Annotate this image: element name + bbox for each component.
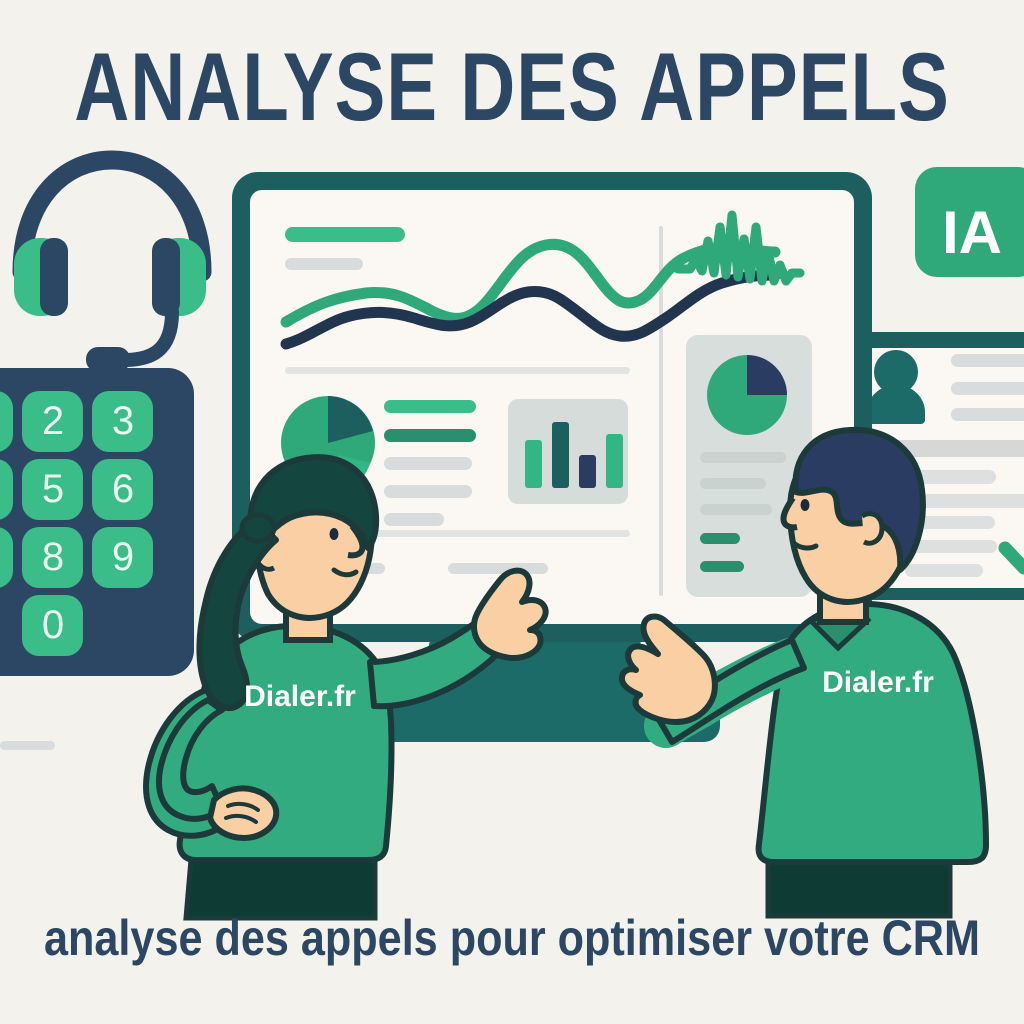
- dialpad-key-label: 0: [42, 603, 64, 647]
- page-title: ANALYSE DES APPELS: [74, 33, 950, 141]
- right-panel-card: [686, 335, 812, 597]
- dialpad-key[interactable]: 6: [92, 459, 153, 520]
- dialpad-key[interactable]: 9: [92, 527, 153, 588]
- bar: [579, 455, 596, 488]
- dialpad-key-label: 9: [112, 535, 134, 579]
- card-line: [700, 452, 786, 463]
- dialpad-key[interactable]: 4: [0, 459, 13, 520]
- crm-line: [951, 408, 1024, 421]
- ia-badge-label: IA: [942, 199, 1002, 266]
- page-caption: analyse des appels pour optimiser votre …: [44, 910, 980, 966]
- dialpad-key[interactable]: 5: [22, 459, 83, 520]
- eye: [801, 499, 810, 511]
- bar: [525, 440, 542, 488]
- panel-divider: [285, 367, 630, 374]
- crm-line: [951, 382, 1024, 395]
- panel-line: [384, 457, 472, 470]
- shirt-label: Dialer.fr: [822, 666, 934, 699]
- dialpad-key-label: 8: [42, 535, 64, 579]
- bar-chart-card: [508, 399, 628, 504]
- poster-illustration: ANALYSE DES APPELS 1 2: [0, 0, 1024, 1024]
- ia-badge: IA: [915, 167, 1024, 277]
- panel-line: [448, 563, 548, 574]
- card-line: [700, 533, 740, 544]
- dialpad-key[interactable]: 7: [0, 527, 13, 588]
- card-line: [700, 478, 766, 489]
- dialpad-key[interactable]: 0: [22, 595, 83, 656]
- panel-title-bar: [285, 227, 405, 242]
- dialpad-key-label: 6: [112, 467, 134, 511]
- dialpad-key[interactable]: 2: [22, 391, 83, 452]
- crm-line: [905, 564, 983, 577]
- bar: [552, 422, 569, 488]
- card-line: [700, 504, 772, 515]
- dialpad-key[interactable]: 8: [22, 527, 83, 588]
- panel-subtitle-bar: [285, 258, 363, 270]
- bar: [606, 434, 623, 488]
- card-line: [700, 561, 744, 572]
- dialpad-key[interactable]: 1: [0, 391, 13, 452]
- dialpad-key-label: 5: [42, 467, 64, 511]
- decor-line: [0, 741, 55, 750]
- dialpad-key[interactable]: 3: [92, 391, 153, 452]
- illustration-canvas: ANALYSE DES APPELS 1 2: [0, 0, 1024, 1024]
- eye: [330, 528, 339, 540]
- panel-line: [384, 429, 476, 442]
- dialpad-key-label: 2: [42, 399, 64, 443]
- pie-chart-right: [707, 355, 787, 435]
- shirt-label: Dialer.fr: [244, 680, 356, 713]
- panel-line: [384, 485, 472, 498]
- dialpad[interactable]: 1 2 3 4 5 6: [0, 368, 194, 676]
- panel-line: [384, 513, 444, 526]
- dialpad-key-label: 3: [112, 399, 134, 443]
- panel-line: [384, 400, 476, 413]
- crm-line: [951, 354, 1024, 367]
